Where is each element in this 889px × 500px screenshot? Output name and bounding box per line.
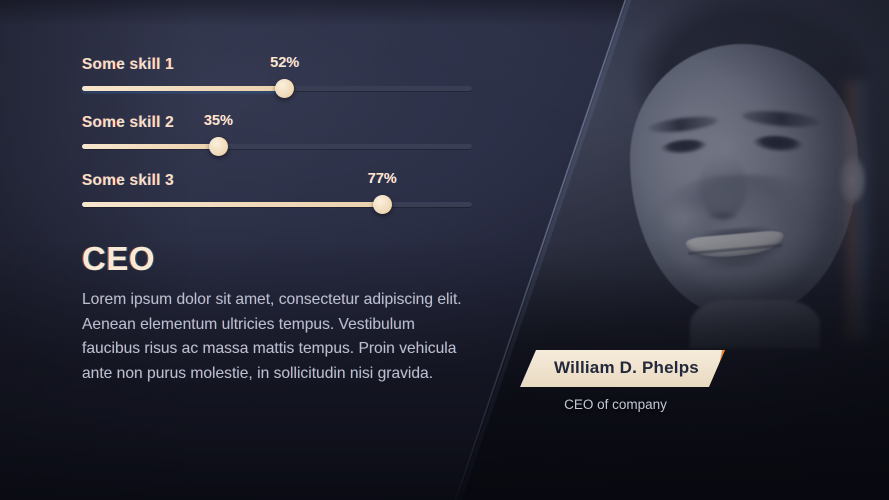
badge-accent-edge: [715, 350, 726, 387]
skill-track[interactable]: [82, 202, 472, 207]
role-description: Lorem ipsum dolor sit amet, consectetur …: [82, 288, 462, 386]
skill-percent-label: 77%: [368, 171, 397, 187]
skills-list: Some skill 1 52% Some skill 2 35% Some s…: [82, 56, 474, 230]
skill-row-1[interactable]: Some skill 1 52%: [82, 56, 474, 114]
skill-fill: [82, 86, 285, 91]
slide-canvas: Some skill 1 52% Some skill 2 35% Some s…: [0, 0, 889, 500]
page-title: CEO: [82, 240, 155, 278]
person-subtitle: CEO of company: [520, 397, 725, 412]
person-name: William D. Phelps: [554, 358, 699, 377]
skill-label: Some skill 1: [82, 56, 174, 74]
skill-label: Some skill 3: [82, 172, 174, 190]
skill-label: Some skill 2: [82, 114, 174, 132]
skill-row-2[interactable]: Some skill 2 35%: [82, 114, 474, 172]
person-name-block: William D. Phelps CEO of company: [520, 350, 725, 412]
skill-percent-label: 35%: [204, 113, 233, 129]
skill-track[interactable]: [82, 86, 472, 91]
skill-fill: [82, 202, 382, 207]
skill-knob[interactable]: [275, 79, 294, 98]
skill-track[interactable]: [82, 144, 472, 149]
skill-knob[interactable]: [209, 137, 228, 156]
name-badge: William D. Phelps: [520, 350, 725, 387]
skill-knob[interactable]: [373, 195, 392, 214]
skill-percent-label: 52%: [270, 55, 299, 71]
skill-row-3[interactable]: Some skill 3 77%: [82, 172, 474, 230]
skill-fill: [82, 144, 219, 149]
